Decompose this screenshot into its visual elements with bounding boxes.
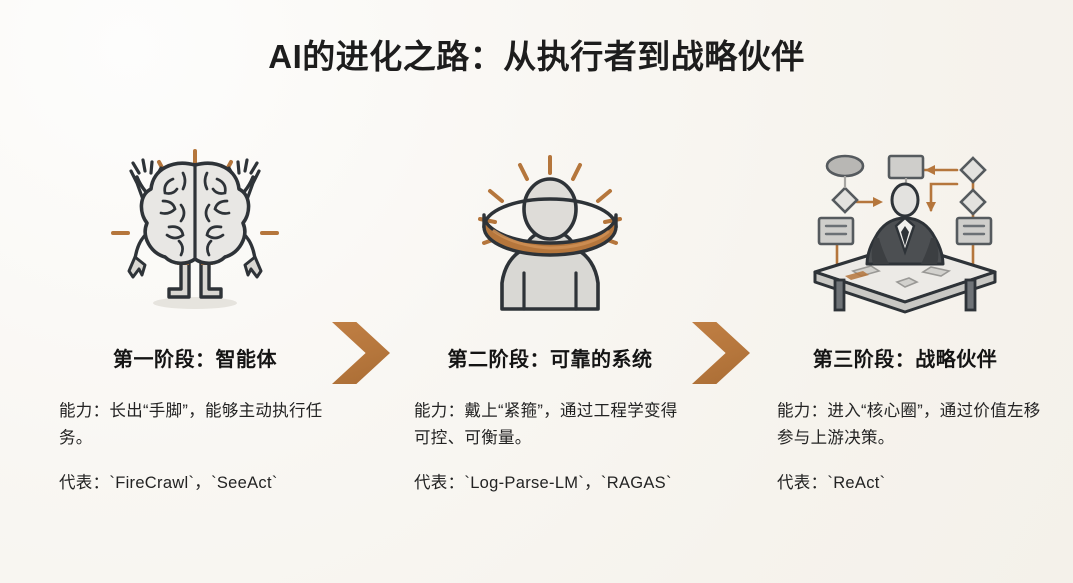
stage-body-3: 能力：进入“核心圈”，通过价值左移参与上游决策。 代表：`ReAct` bbox=[755, 398, 1055, 497]
stage-ability-2: 能力：戴上“紧箍”，通过工程学变得可控、可衡量。 bbox=[414, 398, 690, 451]
page-title: AI的进化之路：从执行者到战略伙伴 bbox=[0, 36, 1073, 77]
strategist-at-planning-table-illustration bbox=[755, 140, 1055, 315]
stage-column-3: 第三阶段：战略伙伴 能力：进入“核心圈”，通过价值左移参与上游决策。 代表：`R… bbox=[755, 140, 1055, 570]
stage-representatives-3: 代表：`ReAct` bbox=[777, 470, 1049, 497]
stage-body-2: 能力：戴上“紧箍”，通过工程学变得可控、可衡量。 代表：`Log-Parse-L… bbox=[400, 398, 700, 497]
stage-ability-3: 能力：进入“核心圈”，通过价值左移参与上游决策。 bbox=[777, 398, 1049, 451]
stage-representatives-2: 代表：`Log-Parse-LM`，`RAGAS` bbox=[414, 470, 690, 497]
slide-canvas: AI的进化之路：从执行者到战略伙伴 bbox=[0, 0, 1073, 583]
stage-title-3: 第三阶段：战略伙伴 bbox=[755, 343, 1055, 372]
stage-representatives-1: 代表：`FireCrawl`，`SeeAct` bbox=[59, 470, 329, 497]
stage-ability-1: 能力：长出“手脚”，能够主动执行任务。 bbox=[59, 398, 329, 451]
stage-body-1: 能力：长出“手脚”，能够主动执行任务。 代表：`FireCrawl`，`SeeA… bbox=[45, 398, 345, 497]
stage-columns: 第一阶段：智能体 能力：长出“手脚”，能够主动执行任务。 代表：`FireCra… bbox=[0, 140, 1073, 570]
stage-column-1: 第一阶段：智能体 能力：长出“手脚”，能够主动执行任务。 代表：`FireCra… bbox=[45, 140, 345, 570]
stage-title-1: 第一阶段：智能体 bbox=[45, 343, 345, 372]
stage-title-2: 第二阶段：可靠的系统 bbox=[400, 343, 700, 372]
stage-column-2: 第二阶段：可靠的系统 能力：戴上“紧箍”，通过工程学变得可控、可衡量。 代表：`… bbox=[400, 140, 700, 570]
brain-with-limbs-illustration bbox=[45, 140, 345, 315]
person-with-constraint-ring-illustration bbox=[400, 140, 700, 315]
